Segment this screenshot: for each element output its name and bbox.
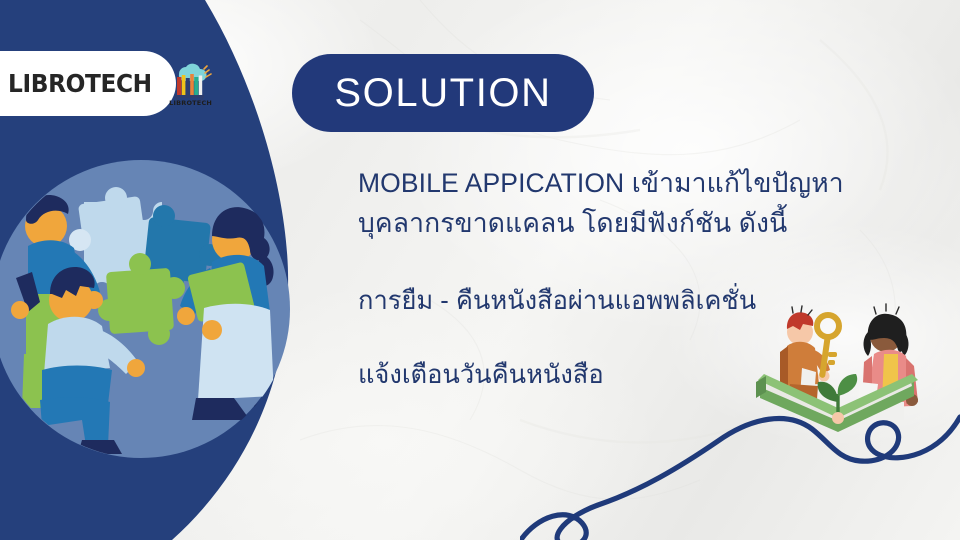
section-title-badge: SOLUTION (292, 54, 594, 132)
logo-mark-caption: LIBROTECH (169, 99, 213, 107)
intro-paragraph: MOBILE APPICATION เข้ามาแก้ไขปัญหา บุคลา… (358, 163, 918, 243)
page-title: SOLUTION (334, 71, 551, 116)
logo-pill[interactable]: LIBROTECH (0, 51, 176, 116)
decorative-curved-line (520, 395, 960, 540)
bookshelf-cloud-icon: LIBROTECH (169, 60, 213, 108)
teamwork-puzzle-illustration (0, 158, 296, 460)
slide-canvas: LIBROTECH (0, 0, 960, 540)
logo-wordmark: LIBROTECH (8, 69, 152, 98)
